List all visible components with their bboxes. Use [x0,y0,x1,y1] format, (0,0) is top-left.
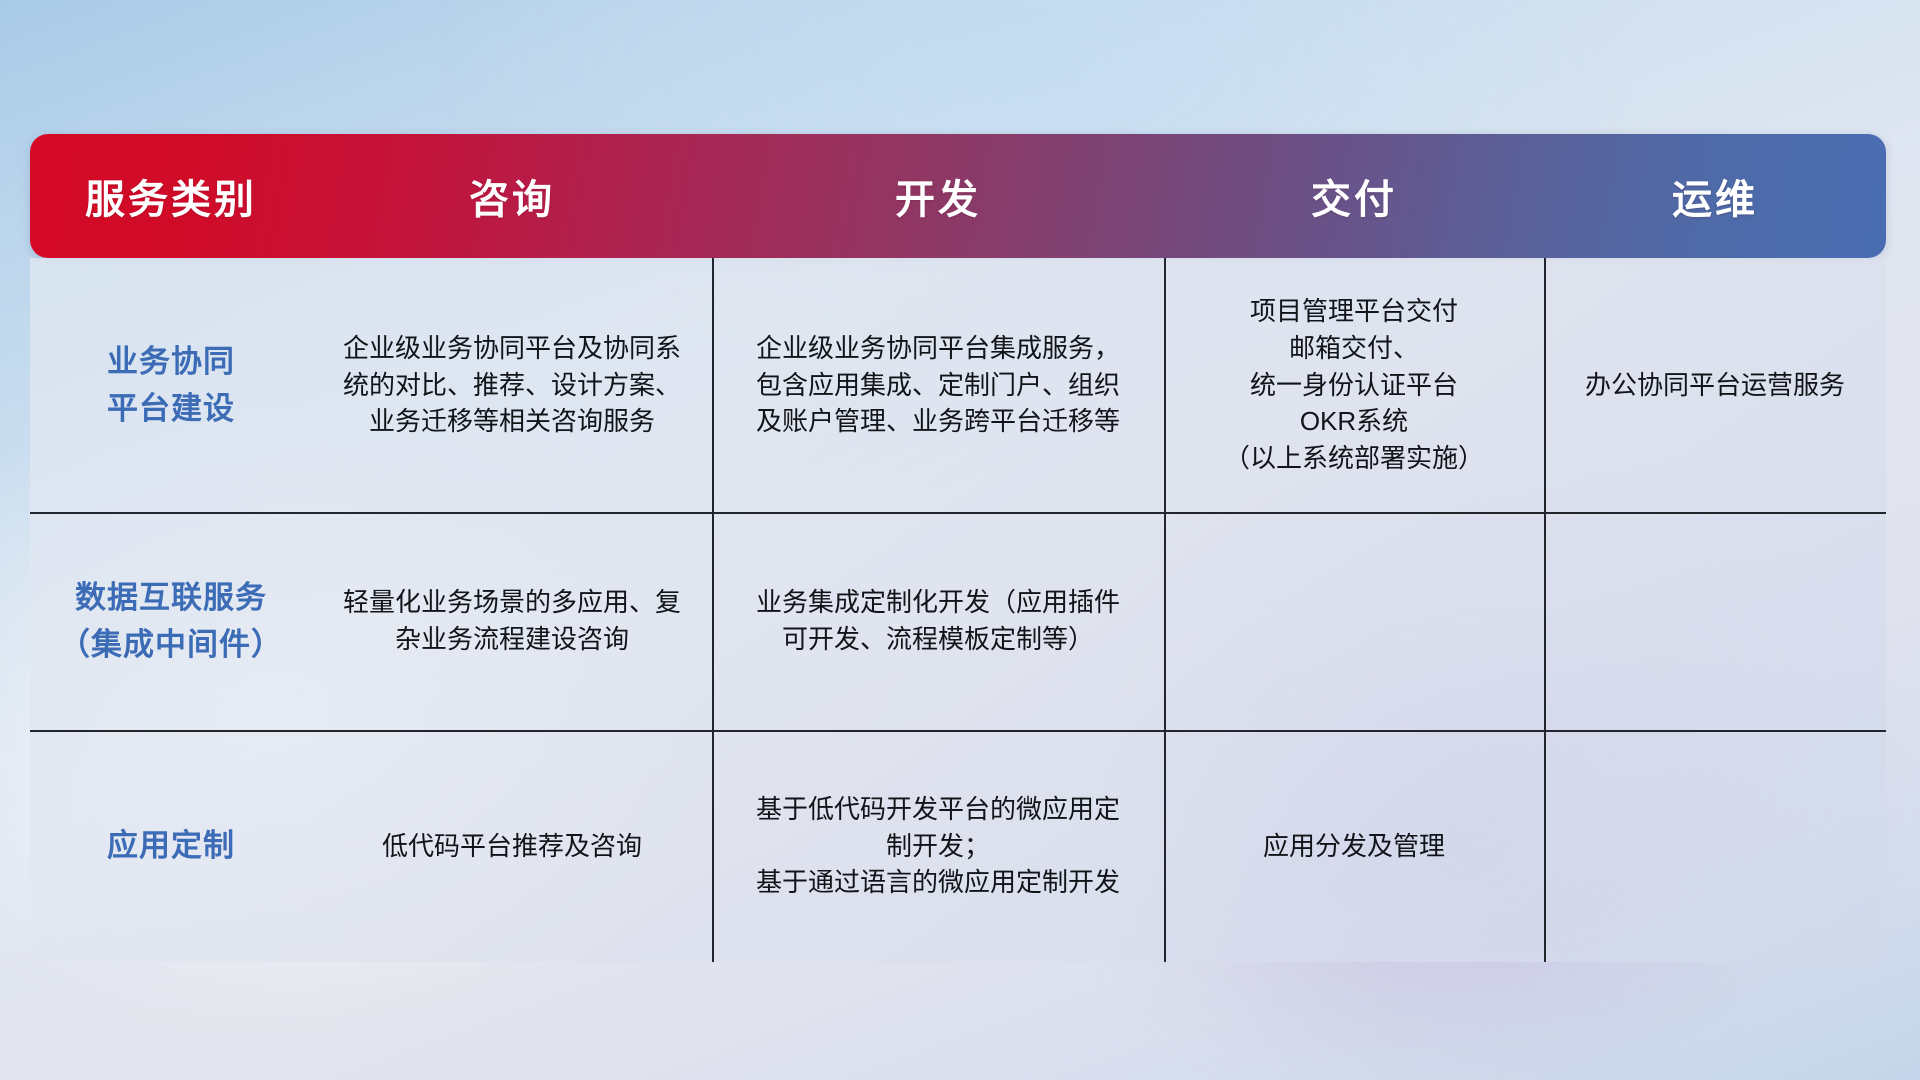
cell-r1-operations [1544,512,1886,730]
row-divider-1 [30,512,1886,514]
column-header-delivery: 交付 [1164,167,1544,225]
row-label-business-collaboration: 业务协同 平台建设 [30,258,312,512]
column-header-consulting: 咨询 [312,167,712,225]
column-divider-1 [712,258,714,962]
column-header-operations: 运维 [1544,167,1886,225]
cell-r0-development: 企业级业务协同平台集成服务， 包含应用集成、定制门户、组织 及账户管理、业务跨平… [712,258,1164,512]
cell-r1-development: 业务集成定制化开发（应用插件 可开发、流程模板定制等） [712,512,1164,730]
cell-r0-delivery: 项目管理平台交付 邮箱交付、 统一身份认证平台 OKR系统 （以上系统部署实施） [1164,258,1544,512]
cell-r2-operations [1544,730,1886,962]
table-header-row: 服务类别 咨询 开发 交付 运维 [30,134,1886,258]
row-label-data-interconnect: 数据互联服务 （集成中间件） [30,512,312,730]
cell-r1-delivery [1164,512,1544,730]
cell-r2-consulting: 低代码平台推荐及咨询 [312,730,712,962]
cell-r0-operations: 办公协同平台运营服务 [1544,258,1886,512]
table-row: 数据互联服务 （集成中间件） 轻量化业务场景的多应用、复 杂业务流程建设咨询 业… [30,512,1886,730]
column-header-development: 开发 [712,167,1164,225]
cell-r2-delivery: 应用分发及管理 [1164,730,1544,962]
service-category-table: 服务类别 咨询 开发 交付 运维 业务协同 平台建设 企业级业务协同平台及协同系… [30,134,1886,962]
column-header-category: 服务类别 [30,167,312,225]
column-divider-2 [1164,258,1166,962]
table-body: 业务协同 平台建设 企业级业务协同平台及协同系 统的对比、推荐、设计方案、 业务… [30,258,1886,962]
row-label-app-customization: 应用定制 [30,730,312,962]
cell-r0-consulting: 企业级业务协同平台及协同系 统的对比、推荐、设计方案、 业务迁移等相关咨询服务 [312,258,712,512]
row-divider-2 [30,730,1886,732]
cell-r1-consulting: 轻量化业务场景的多应用、复 杂业务流程建设咨询 [312,512,712,730]
table-row: 应用定制 低代码平台推荐及咨询 基于低代码开发平台的微应用定 制开发； 基于通过… [30,730,1886,962]
table-row: 业务协同 平台建设 企业级业务协同平台及协同系 统的对比、推荐、设计方案、 业务… [30,258,1886,512]
column-divider-3 [1544,258,1546,962]
cell-r2-development: 基于低代码开发平台的微应用定 制开发； 基于通过语言的微应用定制开发 [712,730,1164,962]
